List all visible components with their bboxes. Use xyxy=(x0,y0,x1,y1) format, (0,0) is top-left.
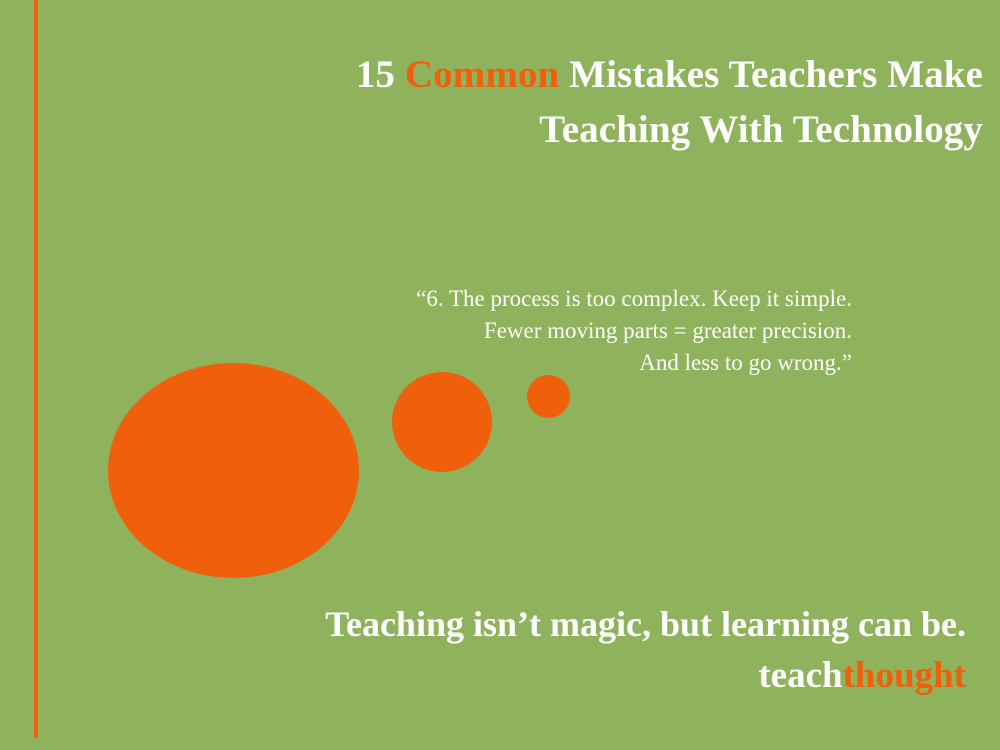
brand-logo-second: thought xyxy=(843,655,966,696)
quote-line-1: “6. The process is too complex. Keep it … xyxy=(0,283,852,315)
title-prefix: 15 xyxy=(356,53,405,96)
decorative-circle-medium xyxy=(392,372,492,472)
decorative-circle-small xyxy=(527,375,570,418)
slide-canvas: 15 Common Mistakes Teachers Make Teachin… xyxy=(0,0,1000,750)
title-line-2: Teaching With Technology xyxy=(0,102,983,157)
title-accent-word: Common xyxy=(405,53,559,96)
quote-line-2: Fewer moving parts = greater precision. xyxy=(0,315,852,347)
tagline: Teaching isn’t magic, but learning can b… xyxy=(0,602,966,646)
brand-logo: teachthought xyxy=(0,653,966,699)
quote-text: “6. The process is too complex. Keep it … xyxy=(0,283,852,379)
page-title: 15 Common Mistakes Teachers Make Teachin… xyxy=(0,47,983,157)
title-line-1: 15 Common Mistakes Teachers Make xyxy=(0,47,983,102)
brand-logo-first: teach xyxy=(758,655,842,696)
decorative-circle-large xyxy=(108,363,359,578)
title-suffix: Mistakes Teachers Make xyxy=(559,53,983,96)
